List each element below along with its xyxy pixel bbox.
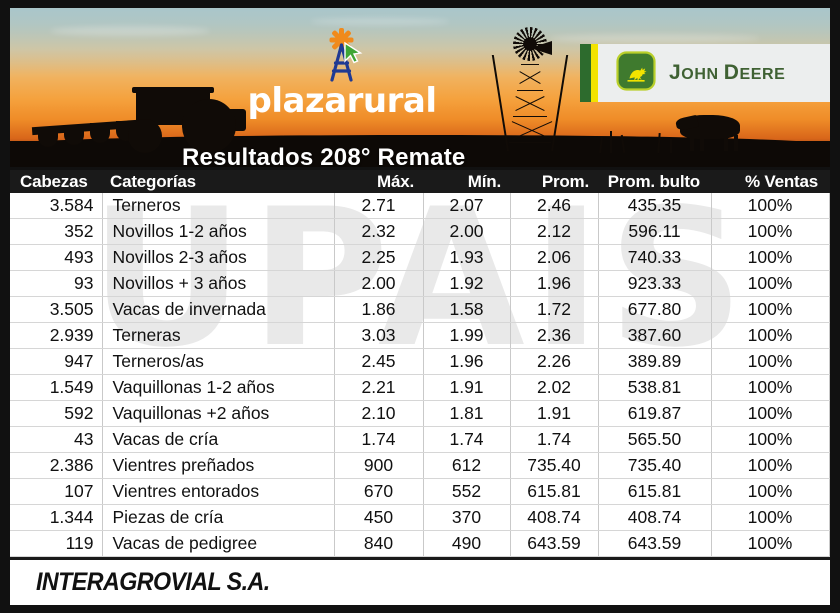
cell-prom: 1.96 bbox=[510, 271, 598, 297]
cell-cabezas: 352 bbox=[10, 219, 102, 245]
cell-prom: 735.40 bbox=[510, 453, 598, 479]
john-deere-wordmark: JOHN DEERE bbox=[669, 61, 785, 85]
cell-cabezas: 1.549 bbox=[10, 375, 102, 401]
cell-dif: 3.2% bbox=[829, 375, 830, 401]
john-deere-sponsor-badge[interactable]: JOHN DEERE bbox=[580, 44, 830, 102]
cell-prom: 2.26 bbox=[510, 349, 598, 375]
cell-max: 900 bbox=[334, 453, 423, 479]
jd-green-bar bbox=[580, 44, 591, 102]
cell-min: 1.74 bbox=[423, 427, 510, 453]
plazarural-wordmark: plazarural bbox=[242, 84, 442, 118]
cell-dif: 4.0% bbox=[829, 349, 830, 375]
cell-categoria: Vacas de invernada bbox=[102, 297, 334, 323]
table-row[interactable]: 3.584Terneros2.712.072.46435.35100%9.9% bbox=[10, 193, 830, 219]
cell-categoria: Vacas de cría bbox=[102, 427, 334, 453]
cell-min: 1.81 bbox=[423, 401, 510, 427]
cloud-shape bbox=[310, 18, 450, 25]
col-header-max[interactable]: Máx. bbox=[334, 170, 423, 193]
jd-d: D bbox=[724, 61, 740, 84]
cell-dif: 5.4% bbox=[829, 453, 830, 479]
total-bulto bbox=[598, 557, 711, 561]
cell-cabezas: 592 bbox=[10, 401, 102, 427]
cell-min: 490 bbox=[423, 531, 510, 557]
cell-ventas: 100% bbox=[711, 375, 829, 401]
cell-dif: -10.8% bbox=[829, 479, 830, 505]
windmill-silhouette-icon bbox=[495, 21, 565, 151]
cell-categoria: Terneras bbox=[102, 323, 334, 349]
cell-min: 552 bbox=[423, 479, 510, 505]
cell-min: 1.99 bbox=[423, 323, 510, 349]
cell-ventas: 100% bbox=[711, 219, 829, 245]
weed-silhouette bbox=[610, 131, 612, 153]
cell-dif: 2.1% bbox=[829, 531, 830, 557]
table-row[interactable]: 493Novillos 2-3 años2.251.932.06740.3310… bbox=[10, 245, 830, 271]
jd-yellow-bar bbox=[591, 44, 598, 102]
cell-ventas: 100% bbox=[711, 193, 829, 219]
cell-min: 1.93 bbox=[423, 245, 510, 271]
cell-cabezas: 107 bbox=[10, 479, 102, 505]
page-root: plazarural Resultados 208° Remate JOHN D… bbox=[0, 0, 840, 613]
cell-categoria: Vientres preñados bbox=[102, 453, 334, 479]
cell-max: 450 bbox=[334, 505, 423, 531]
windmill-sun-cursor-icon bbox=[312, 28, 372, 83]
jd-ohn: OHN bbox=[681, 66, 723, 83]
cell-categoria: Vaquillonas +2 años bbox=[102, 401, 334, 427]
company-name: INTERAGROVIAL S.A. bbox=[36, 568, 270, 597]
cell-categoria: Novillos 2-3 años bbox=[102, 245, 334, 271]
cell-bulto: 387.60 bbox=[598, 323, 711, 349]
cell-max: 2.32 bbox=[334, 219, 423, 245]
cell-bulto: 923.33 bbox=[598, 271, 711, 297]
cell-dif: 7.3% bbox=[829, 245, 830, 271]
cell-min: 1.58 bbox=[423, 297, 510, 323]
table-row[interactable]: 1.549Vaquillonas 1-2 años2.211.912.02538… bbox=[10, 375, 830, 401]
cell-dif: 9.9% bbox=[829, 193, 830, 219]
cell-max: 3.03 bbox=[334, 323, 423, 349]
cell-categoria: Novillos + 3 años bbox=[102, 271, 334, 297]
cell-prom: 615.81 bbox=[510, 479, 598, 505]
cell-cabezas: 3.584 bbox=[10, 193, 102, 219]
total-cabezas: 18.048 bbox=[10, 557, 102, 561]
cell-bulto: 615.81 bbox=[598, 479, 711, 505]
cell-max: 2.21 bbox=[334, 375, 423, 401]
cell-dif: 6.6% bbox=[829, 219, 830, 245]
cell-cabezas: 43 bbox=[10, 427, 102, 453]
cell-ventas: 100% bbox=[711, 323, 829, 349]
cell-dif: 9.9% bbox=[829, 297, 830, 323]
total-min bbox=[423, 557, 510, 561]
col-header-prom-bulto[interactable]: Prom. bulto bbox=[598, 170, 711, 193]
cell-ventas: 100% bbox=[711, 427, 829, 453]
table-row[interactable]: 352Novillos 1-2 años2.322.002.12596.1110… bbox=[10, 219, 830, 245]
cell-max: 1.74 bbox=[334, 427, 423, 453]
table-row[interactable]: 107Vientres entorados670552615.81615.811… bbox=[10, 479, 830, 505]
table-row[interactable]: 2.386Vientres preñados900612735.40735.40… bbox=[10, 453, 830, 479]
cell-categoria: Piezas de cría bbox=[102, 505, 334, 531]
plazarural-logo[interactable]: plazarural bbox=[242, 28, 442, 116]
footer-brand: INTERAGROVIAL S.A. bbox=[10, 560, 830, 605]
table-row[interactable]: 119Vacas de pedigree840490643.59643.5910… bbox=[10, 531, 830, 557]
cell-bulto: 596.11 bbox=[598, 219, 711, 245]
cell-ventas: 100% bbox=[711, 479, 829, 505]
table-header: Cabezas Categorías Máx. Mín. Prom. Prom.… bbox=[10, 170, 830, 193]
cell-categoria: Terneros/as bbox=[102, 349, 334, 375]
cell-bulto: 435.35 bbox=[598, 193, 711, 219]
cell-prom: 2.46 bbox=[510, 193, 598, 219]
cell-prom: 1.74 bbox=[510, 427, 598, 453]
jd-j: J bbox=[669, 61, 681, 84]
cell-max: 2.25 bbox=[334, 245, 423, 271]
cell-min: 2.00 bbox=[423, 219, 510, 245]
total-label: TOTAL DE VACUNOS VENDIDOS bbox=[102, 557, 334, 561]
cell-bulto: 389.89 bbox=[598, 349, 711, 375]
cell-cabezas: 2.386 bbox=[10, 453, 102, 479]
cell-prom: 1.91 bbox=[510, 401, 598, 427]
cell-prom: 408.74 bbox=[510, 505, 598, 531]
cell-prom: 2.36 bbox=[510, 323, 598, 349]
cell-bulto: 619.87 bbox=[598, 401, 711, 427]
table-row[interactable]: 43Vacas de cría1.741.741.74565.50100% bbox=[10, 427, 830, 453]
cell-ventas: 100% bbox=[711, 505, 829, 531]
cell-dif: 9.1% bbox=[829, 271, 830, 297]
cell-max: 2.00 bbox=[334, 271, 423, 297]
cell-dif: 7.9% bbox=[829, 401, 830, 427]
results-table: Cabezas Categorías Máx. Mín. Prom. Prom.… bbox=[10, 170, 830, 560]
cell-prom: 1.72 bbox=[510, 297, 598, 323]
total-max bbox=[334, 557, 423, 561]
cow-silhouette-icon bbox=[676, 111, 748, 151]
cell-min: 2.07 bbox=[423, 193, 510, 219]
cell-cabezas: 493 bbox=[10, 245, 102, 271]
cell-prom: 643.59 bbox=[510, 531, 598, 557]
cell-categoria: Vientres entorados bbox=[102, 479, 334, 505]
cell-dif: 8.6% bbox=[829, 323, 830, 349]
cell-ventas: 100% bbox=[711, 297, 829, 323]
cell-max: 2.45 bbox=[334, 349, 423, 375]
cell-bulto: 538.81 bbox=[598, 375, 711, 401]
total-prom bbox=[510, 557, 598, 561]
cell-max: 670 bbox=[334, 479, 423, 505]
table-row[interactable]: 1.344Piezas de cría450370408.74408.74100… bbox=[10, 505, 830, 531]
cell-max: 2.10 bbox=[334, 401, 423, 427]
weed-silhouette bbox=[670, 139, 672, 153]
cell-cabezas: 93 bbox=[10, 271, 102, 297]
table-total-row: 18.048TOTAL DE VACUNOS VENDIDOS100% bbox=[10, 557, 830, 561]
cell-ventas: 100% bbox=[711, 349, 829, 375]
cell-categoria: Vaquillonas 1-2 años bbox=[102, 375, 334, 401]
table-header-row: Cabezas Categorías Máx. Mín. Prom. Prom.… bbox=[10, 170, 830, 193]
cell-bulto: 677.80 bbox=[598, 297, 711, 323]
deer-logo-icon bbox=[616, 51, 656, 96]
table-body: 3.584Terneros2.712.072.46435.35100%9.9%3… bbox=[10, 193, 830, 560]
col-header-cabezas[interactable]: Cabezas bbox=[10, 170, 102, 193]
cell-bulto: 740.33 bbox=[598, 245, 711, 271]
cell-ventas: 100% bbox=[711, 531, 829, 557]
cell-cabezas: 947 bbox=[10, 349, 102, 375]
col-header-ventas[interactable]: % Ventas bbox=[711, 170, 829, 193]
cell-bulto: 643.59 bbox=[598, 531, 711, 557]
cell-ventas: 100% bbox=[711, 245, 829, 271]
banner-title: Resultados 208° Remate bbox=[182, 144, 465, 167]
cell-bulto: 565.50 bbox=[598, 427, 711, 453]
cell-min: 1.92 bbox=[423, 271, 510, 297]
cell-dif bbox=[829, 427, 830, 453]
cell-min: 612 bbox=[423, 453, 510, 479]
col-header-dif[interactable]: Dif.% 207° bbox=[829, 170, 830, 193]
table-row[interactable]: 592Vaquillonas +2 años2.101.811.91619.87… bbox=[10, 401, 830, 427]
table-row[interactable]: 3.505Vacas de invernada1.861.581.72677.8… bbox=[10, 297, 830, 323]
results-table-container: UPAIS Cabezas Categorías Máx. Mín. Prom.… bbox=[10, 170, 830, 560]
table-row[interactable]: 2.939Terneras3.031.992.36387.60100%8.6% bbox=[10, 323, 830, 349]
col-header-prom[interactable]: Prom. bbox=[510, 170, 598, 193]
cell-max: 1.86 bbox=[334, 297, 423, 323]
cloud-shape bbox=[550, 34, 760, 43]
cell-prom: 2.06 bbox=[510, 245, 598, 271]
cell-cabezas: 119 bbox=[10, 531, 102, 557]
cell-bulto: 408.74 bbox=[598, 505, 711, 531]
table-row[interactable]: 947Terneros/as2.451.962.26389.89100%4.0% bbox=[10, 349, 830, 375]
cell-max: 2.71 bbox=[334, 193, 423, 219]
cell-min: 1.91 bbox=[423, 375, 510, 401]
total-ventas: 100% bbox=[711, 557, 829, 561]
cell-categoria: Vacas de pedigree bbox=[102, 531, 334, 557]
cell-prom: 2.02 bbox=[510, 375, 598, 401]
cell-dif: 6.7% bbox=[829, 505, 830, 531]
cell-categoria: Terneros bbox=[102, 193, 334, 219]
cell-max: 840 bbox=[334, 531, 423, 557]
cell-min: 370 bbox=[423, 505, 510, 531]
col-header-categorias[interactable]: Categorías bbox=[102, 170, 334, 193]
jd-eere: EERE bbox=[739, 66, 785, 83]
cell-cabezas: 1.344 bbox=[10, 505, 102, 531]
cell-cabezas: 3.505 bbox=[10, 297, 102, 323]
cell-bulto: 735.40 bbox=[598, 453, 711, 479]
col-header-min[interactable]: Mín. bbox=[423, 170, 510, 193]
cloud-shape bbox=[50, 26, 210, 36]
cell-categoria: Novillos 1-2 años bbox=[102, 219, 334, 245]
table-row[interactable]: 93Novillos + 3 años2.001.921.96923.33100… bbox=[10, 271, 830, 297]
cell-prom: 2.12 bbox=[510, 219, 598, 245]
banner-hero: plazarural Resultados 208° Remate JOHN D… bbox=[10, 8, 830, 167]
cell-ventas: 100% bbox=[711, 453, 829, 479]
total-dif bbox=[829, 557, 830, 561]
cell-ventas: 100% bbox=[711, 271, 829, 297]
cell-min: 1.96 bbox=[423, 349, 510, 375]
cell-cabezas: 2.939 bbox=[10, 323, 102, 349]
cell-ventas: 100% bbox=[711, 401, 829, 427]
